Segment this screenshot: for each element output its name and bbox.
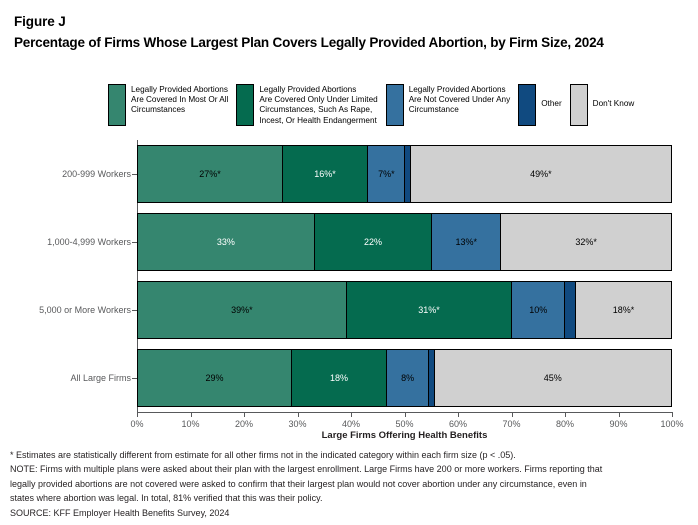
- bar-row: 33%22%13%*32%*: [137, 213, 672, 271]
- bar-segment: 16%*: [282, 146, 367, 202]
- legend-swatch-icon: [236, 84, 254, 126]
- bar-segment-label: 8%: [401, 373, 414, 383]
- legend-item: Legally Provided Abortions Are Covered I…: [108, 84, 228, 126]
- bar-segment-label: 45%: [544, 373, 562, 383]
- bar-row: 27%*16%*7%*49%*: [137, 145, 672, 203]
- chart-legend: Legally Provided Abortions Are Covered I…: [108, 84, 696, 126]
- bar-segment: 10%: [511, 282, 564, 338]
- y-axis-category-label: 200-999 Workers: [62, 169, 131, 179]
- legend-label: Legally Provided Abortions Are Not Cover…: [409, 84, 510, 116]
- bar-segment: 29%: [138, 350, 291, 406]
- bar-segment-label: 33%: [217, 237, 235, 247]
- bar-segment: 31%*: [346, 282, 511, 338]
- bar-segment: 18%*: [575, 282, 671, 338]
- bar-segment: 22%: [314, 214, 431, 270]
- bar-segment-label: 13%*: [456, 237, 478, 247]
- x-axis-tick: [619, 412, 620, 417]
- x-axis-tick-label: 50%: [395, 419, 413, 429]
- bar-segment-label: 49%*: [530, 169, 552, 179]
- bar-segment: 18%: [291, 350, 386, 406]
- bar-segment: 33%: [138, 214, 314, 270]
- x-axis-tick: [672, 412, 673, 417]
- legend-label: Don't Know: [593, 84, 635, 109]
- legend-item: Other: [518, 84, 561, 126]
- x-axis-tick-label: 10%: [181, 419, 199, 429]
- x-axis-tick-label: 70%: [502, 419, 520, 429]
- bar-segment: 39%*: [138, 282, 346, 338]
- x-axis-tick: [298, 412, 299, 417]
- y-axis-category-label: 1,000-4,999 Workers: [47, 237, 131, 247]
- legend-item: Legally Provided Abortions Are Covered O…: [236, 84, 377, 126]
- bar-segment-label: 22%: [364, 237, 382, 247]
- footnote-line: * Estimates are statistically different …: [10, 448, 688, 462]
- chart-footnotes: * Estimates are statistically different …: [10, 448, 688, 520]
- bar-segment-label: 16%*: [314, 169, 336, 179]
- figure-label: Figure J: [14, 12, 674, 32]
- x-axis-tick: [512, 412, 513, 417]
- bar-segment-label: 32%*: [575, 237, 597, 247]
- legend-swatch-icon: [108, 84, 126, 126]
- y-axis-category-label: 5,000 or More Workers: [39, 305, 131, 315]
- bar-segment: [564, 282, 575, 338]
- x-axis-tick: [458, 412, 459, 417]
- footnote-line: states where abortion was legal. In tota…: [10, 491, 688, 505]
- x-axis-tick: [351, 412, 352, 417]
- x-axis-tick: [137, 412, 138, 417]
- x-axis-tick-label: 40%: [342, 419, 360, 429]
- x-axis-tick: [565, 412, 566, 417]
- bar-segment: 8%: [386, 350, 428, 406]
- bar-segment: 27%*: [138, 146, 282, 202]
- bar-segment: 49%*: [410, 146, 671, 202]
- page-title: Percentage of Firms Whose Largest Plan C…: [14, 32, 674, 53]
- bar-segment: 13%*: [431, 214, 500, 270]
- legend-label: Other: [541, 84, 561, 109]
- legend-label: Legally Provided Abortions Are Covered O…: [259, 84, 377, 126]
- bar-segment-label: 18%*: [613, 305, 635, 315]
- bar-segment: 32%*: [500, 214, 671, 270]
- bar-segment: 45%: [434, 350, 671, 406]
- legend-item: Don't Know: [570, 84, 635, 126]
- figure-header: Figure J Percentage of Firms Whose Large…: [14, 12, 674, 53]
- x-axis-tick-label: 60%: [449, 419, 467, 429]
- bar-row: 29%18%8%45%: [137, 349, 672, 407]
- bar-segment-label: 27%*: [199, 169, 221, 179]
- x-axis-tick: [191, 412, 192, 417]
- legend-label: Legally Provided Abortions Are Covered I…: [131, 84, 228, 116]
- y-axis-category-label: All Large Firms: [70, 373, 131, 383]
- bar-segment-label: 18%: [330, 373, 348, 383]
- x-axis-tick: [405, 412, 406, 417]
- x-axis-tick: [244, 412, 245, 417]
- legend-swatch-icon: [386, 84, 404, 126]
- bar-segment-label: 10%: [529, 305, 547, 315]
- y-axis-category-labels: 200-999 Workers1,000-4,999 Workers5,000 …: [0, 140, 131, 412]
- footnote-line: SOURCE: KFF Employer Health Benefits Sur…: [10, 506, 688, 520]
- plot-area: 200-999 Workers1,000-4,999 Workers5,000 …: [0, 140, 698, 430]
- bar-segment-label: 39%*: [231, 305, 253, 315]
- bar-segment-label: 7%*: [378, 169, 395, 179]
- x-axis-tick-label: 30%: [288, 419, 306, 429]
- legend-item: Legally Provided Abortions Are Not Cover…: [386, 84, 510, 126]
- legend-swatch-icon: [518, 84, 536, 126]
- x-axis-tick-label: 100%: [660, 419, 683, 429]
- legend-swatch-icon: [570, 84, 588, 126]
- x-axis-tick-label: 0%: [130, 419, 143, 429]
- x-axis-title: Large Firms Offering Health Benefits: [137, 430, 672, 441]
- x-axis-tick-label: 20%: [235, 419, 253, 429]
- bar-segment-label: 29%: [206, 373, 224, 383]
- x-axis-tick-label: 90%: [609, 419, 627, 429]
- footnote-line: legally provided abortions are not cover…: [10, 477, 688, 491]
- x-axis-tick-label: 80%: [556, 419, 574, 429]
- bar-row: 39%*31%*10%18%*: [137, 281, 672, 339]
- footnote-line: NOTE: Firms with multiple plans were ask…: [10, 462, 688, 476]
- bar-segment: 7%*: [367, 146, 404, 202]
- bar-group: 27%*16%*7%*49%*33%22%13%*32%*39%*31%*10%…: [137, 140, 672, 412]
- bar-segment-label: 31%*: [418, 305, 440, 315]
